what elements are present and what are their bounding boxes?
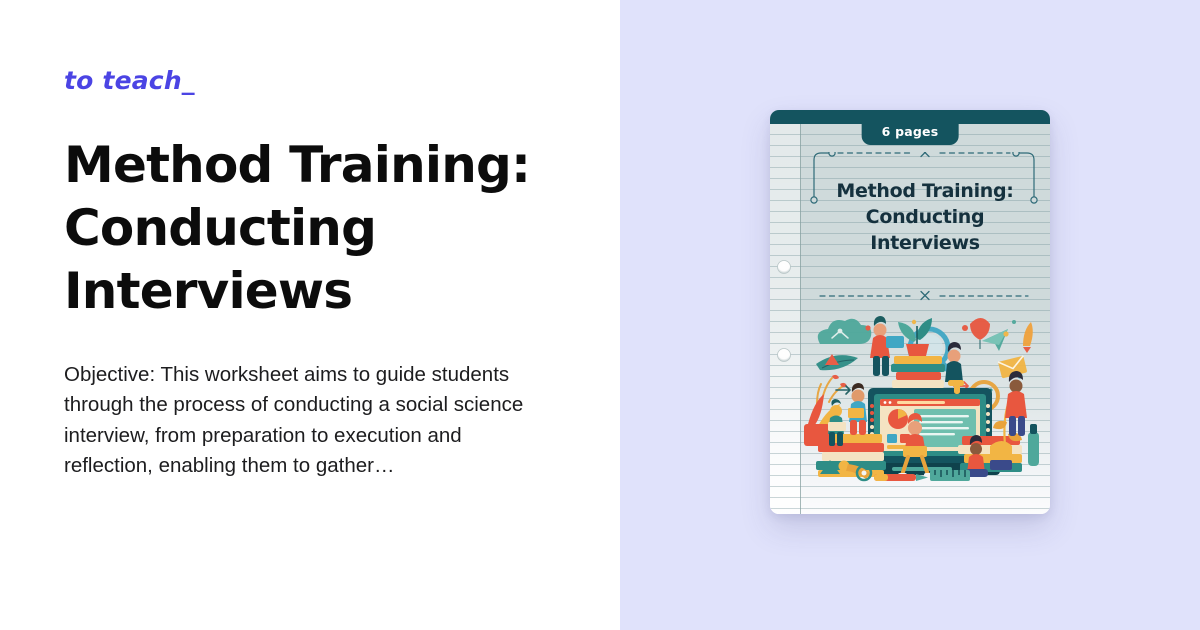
worksheet-title: Method Training: Conducting Interviews	[810, 178, 1040, 257]
page-description: Objective: This worksheet aims to guide …	[64, 360, 542, 481]
person-right-standing	[1005, 371, 1027, 436]
worksheet-title-line-2: Conducting	[810, 204, 1040, 230]
ruler-icon	[930, 470, 970, 481]
person-left-reading	[848, 383, 867, 435]
right-preview-pane: 6 pages	[620, 0, 1200, 630]
page-count-badge: 6 pages	[862, 120, 959, 145]
worksheet-preview-card[interactable]: 6 pages	[770, 110, 1050, 514]
worksheet-title-line-3: Interviews	[810, 230, 1040, 256]
worksheet-illustration	[802, 306, 1048, 484]
page-title: Method Training: Conducting Interviews	[64, 134, 564, 323]
worksheet-title-line-1: Method Training:	[810, 178, 1040, 204]
left-content-pane: to teach_ Method Training: Conducting In…	[0, 0, 620, 630]
open-graph-card: to teach_ Method Training: Conducting In…	[0, 0, 1200, 630]
pencil-icon	[874, 474, 928, 481]
brand-logo[interactable]: to teach_	[64, 68, 195, 93]
